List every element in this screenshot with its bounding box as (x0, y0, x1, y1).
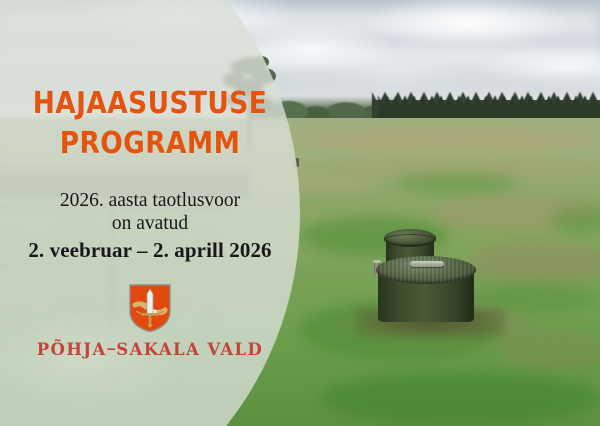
announcement-line-1: 2026. aasta taotlusvoor (12, 189, 288, 212)
announcement-line-2: on avatud (12, 212, 288, 235)
coat-of-arms-icon (128, 283, 172, 333)
green-grass-patch (396, 172, 516, 194)
spruce-canopy-secondary (378, 96, 600, 118)
wordmark-part-1: PÕHJA (37, 340, 107, 360)
dry-grass-patch (470, 240, 600, 284)
page-title: HAJAASUSTUSE PROGRAMM (31, 84, 269, 163)
dry-grass-patch (300, 128, 600, 154)
headline-line-2: PROGRAMM (31, 124, 269, 164)
riser-rim (384, 234, 436, 246)
municipality-wordmark: PÕHJA‒SAKALA VALD (37, 340, 264, 360)
announcement-block: 2026. aasta taotlusvoor on avatud 2. vee… (12, 189, 288, 263)
poster-canvas: HAJAASUSTUSE PROGRAMM 2026. aasta taotlu… (0, 0, 600, 426)
green-grass-patch (320, 372, 600, 426)
riser-lid-handle (410, 261, 444, 267)
wordmark-part-2: SAKALA VALD (116, 340, 263, 360)
application-period-dates: 2. veebruar – 2. aprill 2026 (12, 238, 288, 263)
wordmark-dash: ‒ (107, 342, 117, 358)
headline-line-1: HAJAASUSTUSE (33, 86, 267, 121)
poster-content: HAJAASUSTUSE PROGRAMM 2026. aasta taotlu… (0, 0, 300, 426)
septic-riser-front (378, 270, 474, 322)
dry-grass-patch (500, 330, 600, 370)
municipality-brand: PÕHJA‒SAKALA VALD (25, 283, 275, 359)
